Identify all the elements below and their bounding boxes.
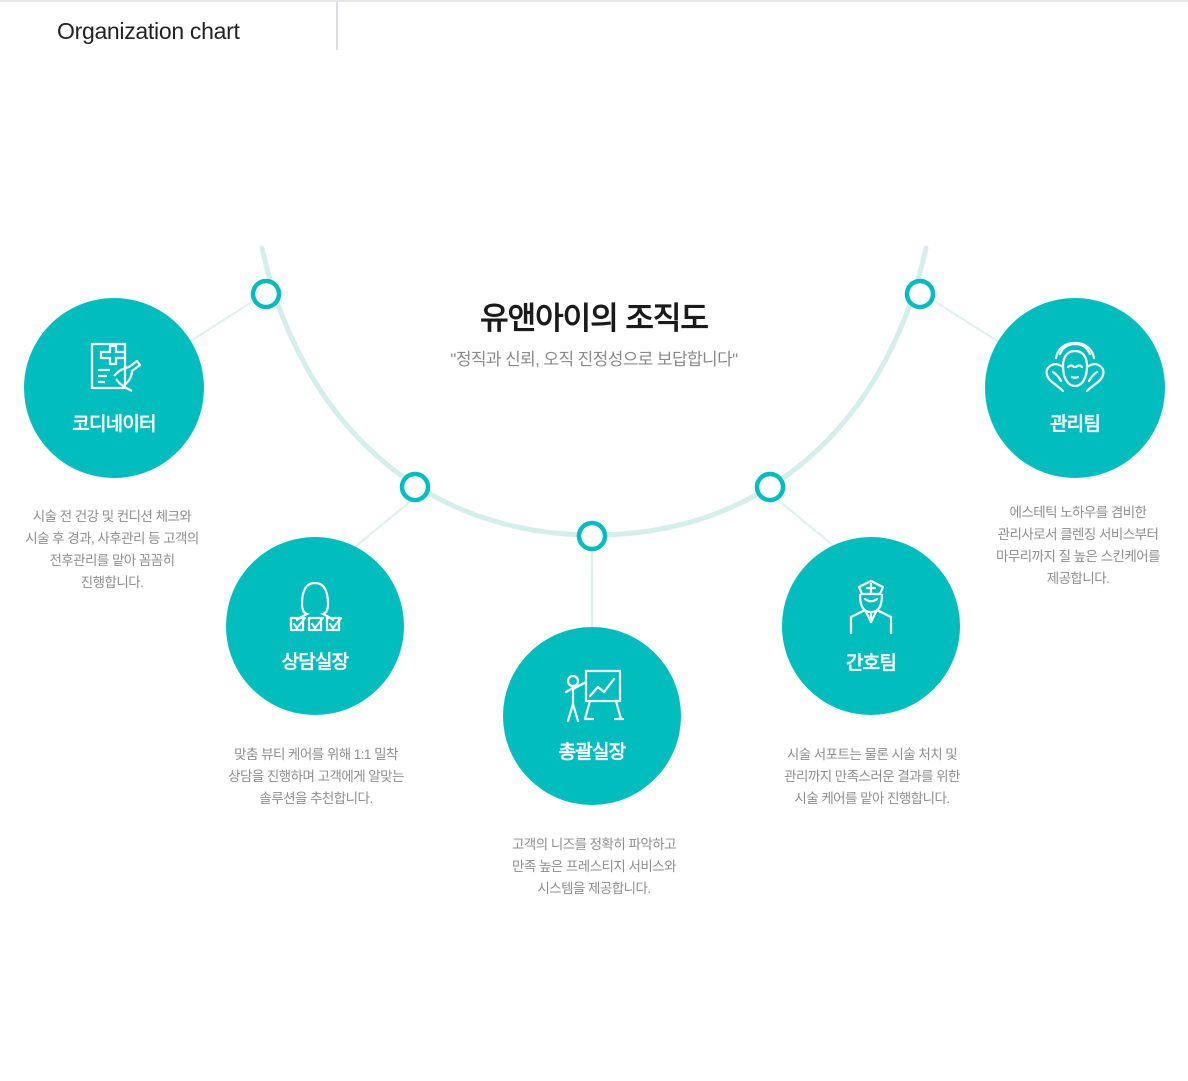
desc-line: 마무리까지 질 높은 스킨케어를 [966, 546, 1188, 568]
ring-node-nursing[interactable] [757, 474, 783, 500]
node-description-counselor: 맞춤 뷰티 케어를 위해 1:1 밀착 상담을 진행하며 고객에게 알맞는 솔루… [196, 744, 436, 810]
desc-line: 제공합니다. [966, 568, 1188, 590]
presenter-chart-icon [560, 668, 624, 731]
desc-line: 전후관리를 맡아 꼼꼼히 [0, 550, 224, 572]
node-description-director: 고객의 니즈를 정확히 파악하고 만족 높은 프레스티지 서비스와 시스템을 제… [478, 834, 710, 900]
node-label-director: 총괄실장 [559, 737, 626, 764]
node-label-manage: 관리팀 [1050, 409, 1100, 436]
desc-line: 시스템을 제공합니다. [478, 878, 710, 900]
desc-line: 시술 후 경과, 사후관리 등 고객의 [0, 528, 224, 550]
desc-line: 고객의 니즈를 정확히 파악하고 [478, 834, 710, 856]
connector-arc [262, 248, 926, 535]
chart-subtitle: "정직과 신뢰, 오직 진정성으로 보답합니다" [339, 349, 849, 371]
desc-line: 관리사로서 클렌징 서비스부터 [966, 524, 1188, 546]
node-counselor[interactable]: 상담실장 [226, 537, 404, 715]
desc-line: 만족 높은 프레스티지 서비스와 [478, 856, 710, 878]
ring-node-coordinator[interactable] [253, 281, 279, 307]
node-label-nursing: 간호팀 [846, 648, 896, 675]
woman-checklist-icon [284, 578, 346, 641]
desc-line: 맞춤 뷰티 케어를 위해 1:1 밀착 [196, 744, 436, 766]
chart-title: 유앤아이의 조직도 [339, 300, 849, 337]
node-label-counselor: 상담실장 [282, 647, 349, 674]
desc-line: 관리까지 만족스러운 결과를 위한 [752, 766, 992, 788]
nurse-icon [841, 577, 901, 642]
desc-line: 시술 서포트는 물론 시술 처치 및 [752, 744, 992, 766]
node-nursing[interactable]: 간호팀 [782, 537, 960, 715]
node-description-nursing: 시술 서포트는 물론 시술 처치 및 관리까지 만족스러운 결과를 위한 시술 … [752, 744, 992, 810]
chart-title-block: 유앤아이의 조직도 "정직과 신뢰, 오직 진정성으로 보답합니다" [339, 300, 849, 371]
desc-line: 에스테틱 노하우를 겸비한 [966, 502, 1188, 524]
node-coordinator[interactable]: 코디네이터 [24, 298, 204, 478]
organization-chart-page: Organization chart 유앤아이의 조직도 "정직과 신뢰, 오직… [0, 0, 1188, 1081]
desc-line: 시술 케어를 맡아 진행합니다. [752, 788, 992, 810]
ring-node-manage[interactable] [907, 281, 933, 307]
node-description-coordinator: 시술 전 건강 및 컨디션 체크와 시술 후 경과, 사후관리 등 고객의 전후… [0, 506, 224, 593]
node-label-coordinator: 코디네이터 [72, 409, 155, 436]
clipboard-pen-icon [83, 340, 145, 403]
desc-line: 상담을 진행하며 고객에게 알맞는 [196, 766, 436, 788]
desc-line: 솔루션을 추천합니다. [196, 788, 436, 810]
facial-care-icon [1040, 340, 1110, 403]
ring-node-counselor[interactable] [402, 474, 428, 500]
node-description-manage: 에스테틱 노하우를 겸비한 관리사로서 클렌징 서비스부터 마무리까지 질 높은… [966, 502, 1188, 589]
spoke-coordinator [186, 302, 252, 344]
desc-line: 시술 전 건강 및 컨디션 체크와 [0, 506, 224, 528]
ring-node-director[interactable] [579, 523, 605, 549]
spoke-manage [936, 302, 1002, 344]
node-manage[interactable]: 관리팀 [985, 298, 1165, 478]
node-director[interactable]: 총괄실장 [503, 627, 681, 805]
desc-line: 진행합니다. [0, 572, 224, 594]
